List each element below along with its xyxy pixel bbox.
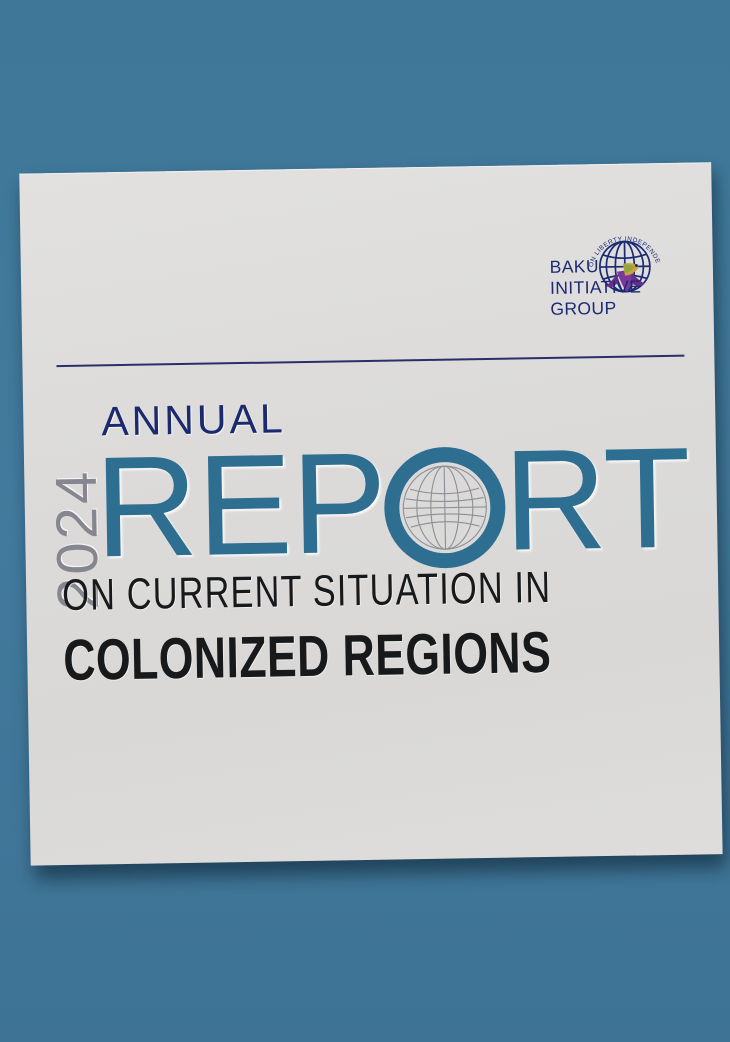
title-segment-before-globe: REP [94, 432, 387, 580]
logo-name-line-3: GROUP [550, 297, 642, 320]
paper-sheet: UNION LIBERTY INDEPENDENCE [19, 162, 722, 865]
organization-logo: UNION LIBERTY INDEPENDENCE [456, 219, 678, 339]
logo-name-line-1: BAKU [550, 255, 642, 278]
organization-name: BAKU INITIATIVE GROUP [550, 255, 642, 320]
cover-main-title: REP [94, 427, 691, 580]
cover-subtitle-line-2: COLONIZED REGIONS [63, 619, 557, 694]
header-divider-rule [56, 355, 684, 367]
report-cover-page: UNION LIBERTY INDEPENDENCE [0, 0, 730, 1042]
logo-name-line-2: INITIATIVE [550, 276, 642, 299]
paper-sheet-wrapper: UNION LIBERTY INDEPENDENCE [9, 162, 721, 874]
globe-letter-o-icon [383, 445, 507, 569]
title-segment-after-globe: RT [503, 427, 691, 573]
cover-subtitle-block: ON CURRENT SITUATION IN COLONIZED REGION… [62, 560, 704, 694]
cover-subtitle-line-1: ON CURRENT SITUATION IN [62, 563, 562, 621]
